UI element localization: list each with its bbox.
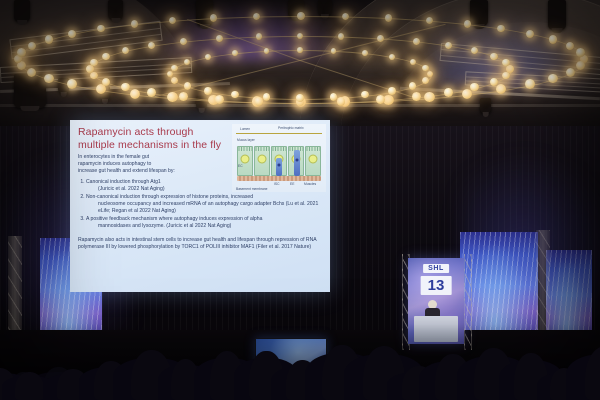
- chandelier-bulb: [376, 95, 385, 104]
- gut-epithelium-diagram: Lumen Peritrophic matrix Mucus layer EC …: [232, 124, 326, 192]
- chandelier-bulb: [296, 94, 304, 102]
- chandelier-bulb: [180, 38, 187, 45]
- chandelier-bulb: [338, 33, 344, 39]
- diagram-label-muscles: Muscles: [304, 182, 316, 186]
- diagram-label-isc: ISC: [274, 182, 280, 186]
- chandelier-bulb: [171, 65, 177, 71]
- diagram-label-basement-membrane: Basement membrane: [236, 187, 268, 191]
- diagram-label-peritrophic-matrix: Peritrophic matrix: [278, 126, 304, 130]
- chandelier-bulb: [45, 35, 53, 43]
- chandelier-bulb: [90, 59, 97, 66]
- chandelier-bulb: [413, 38, 420, 45]
- chandelier-bulb: [388, 87, 395, 94]
- chandelier-bulb: [17, 48, 26, 57]
- chandelier-bulb: [377, 35, 383, 41]
- chandelier-bulb: [502, 59, 509, 66]
- chandelier-bulb: [496, 84, 506, 94]
- chandelier-bulb: [121, 83, 129, 91]
- basement-membrane: [237, 176, 321, 181]
- audience-head: [15, 372, 43, 400]
- chandelier-bulb: [28, 42, 36, 50]
- chandelier-bulb: [389, 54, 395, 60]
- chandelier-bulb: [445, 42, 452, 49]
- chandelier-bulb: [216, 35, 222, 41]
- chandelier-bulb: [297, 12, 304, 19]
- chandelier-bulb: [490, 78, 498, 86]
- chandelier-bulb: [548, 74, 557, 83]
- chandelier-bulb: [549, 35, 557, 43]
- chandelier-bulb: [422, 77, 429, 84]
- chandelier-bulb: [263, 93, 271, 101]
- chandelier-bulb: [383, 95, 393, 105]
- chandelier-bulb: [566, 68, 575, 77]
- progenitor-cell-isc: [276, 158, 282, 176]
- chandelier-bulb: [167, 92, 177, 102]
- chandelier-bulb: [422, 65, 428, 71]
- chandelier: [0, 0, 600, 120]
- chandelier-bulb: [44, 74, 53, 83]
- diagram-label-ee: EE: [290, 182, 294, 186]
- chandelier-bulb: [86, 65, 94, 73]
- progenitor-cell-eb: [294, 150, 300, 176]
- point-text: Non-canonical induction through expressi…: [86, 194, 253, 200]
- chandelier-bulb: [130, 89, 140, 99]
- chandelier-bulb: [171, 77, 178, 84]
- chandelier-bulb: [331, 48, 336, 53]
- chandelier-bulb: [215, 95, 224, 104]
- point-subtext: mannosidases and lysozyme. (Juricic et a…: [86, 223, 324, 230]
- chandelier-bulb: [147, 88, 155, 96]
- diagram-label-mucus-layer: Mucus layer: [237, 138, 255, 142]
- chandelier-bulb: [204, 87, 211, 94]
- chandelier-bulb: [490, 53, 497, 60]
- chandelier-bulb: [410, 59, 416, 65]
- chandelier-bulb: [148, 42, 155, 49]
- chandelier-bulb: [264, 48, 269, 53]
- list-item: A positive feedback mechanism where auto…: [86, 216, 324, 230]
- chandelier-bulb: [297, 47, 302, 52]
- chandelier-bulb: [464, 20, 472, 28]
- point-subtext: nucleosome occupancy and increased mRNA …: [86, 201, 324, 215]
- chandelier-bulb: [362, 50, 368, 56]
- chandelier-bulb: [444, 88, 452, 96]
- chandelier-bulb: [205, 54, 211, 60]
- chandelier-bulb: [210, 14, 217, 21]
- chandelier-bulb: [184, 82, 191, 89]
- enterocyte-cell: [237, 146, 253, 176]
- chandelier-bulb: [122, 47, 129, 54]
- conference-hall-photo: Lumen Peritrophic matrix Mucus layer EC …: [0, 0, 600, 400]
- chandelier-bulb: [337, 97, 346, 106]
- chandelier-bulb: [409, 82, 416, 89]
- banner-number: 13: [421, 276, 452, 295]
- slide-footer-paragraph: Rapamycin also acts in intestinal stem c…: [70, 231, 330, 251]
- chandelier-bulb: [67, 79, 77, 89]
- banner-logo-text: SHL: [423, 264, 449, 273]
- chandelier-bulb: [385, 14, 392, 21]
- point-text: Canonical induction through Atg1: [86, 179, 161, 185]
- projected-slide: Lumen Peritrophic matrix Mucus layer EC …: [70, 120, 330, 292]
- enterocyte-cell: [254, 146, 270, 176]
- chandelier-bulb: [179, 92, 188, 101]
- chandelier-bulb: [102, 53, 109, 60]
- enterocyte-cell: [305, 146, 321, 176]
- chandelier-bulb: [96, 84, 106, 94]
- chandelier-bulb: [27, 68, 36, 77]
- chandelier-bulb: [232, 50, 238, 56]
- chandelier-bulb: [424, 92, 434, 102]
- chandelier-bulb: [68, 30, 76, 38]
- chandelier-bulb: [102, 78, 110, 86]
- chandelier-bulb: [576, 48, 585, 57]
- point-text: A positive feedback mechanism where auto…: [86, 216, 262, 222]
- chandelier-bulb: [576, 61, 585, 70]
- diagram-label-ec: EC: [238, 164, 243, 168]
- chandelier-bulb: [526, 30, 534, 38]
- chandelier-bulb: [256, 33, 262, 39]
- chandelier-bulb: [502, 72, 510, 80]
- chandelier-bulb: [525, 79, 535, 89]
- chandelier-bulb: [412, 92, 421, 101]
- list-item: Non-canonical induction through expressi…: [86, 194, 324, 216]
- diagram-label-lumen: Lumen: [240, 127, 250, 131]
